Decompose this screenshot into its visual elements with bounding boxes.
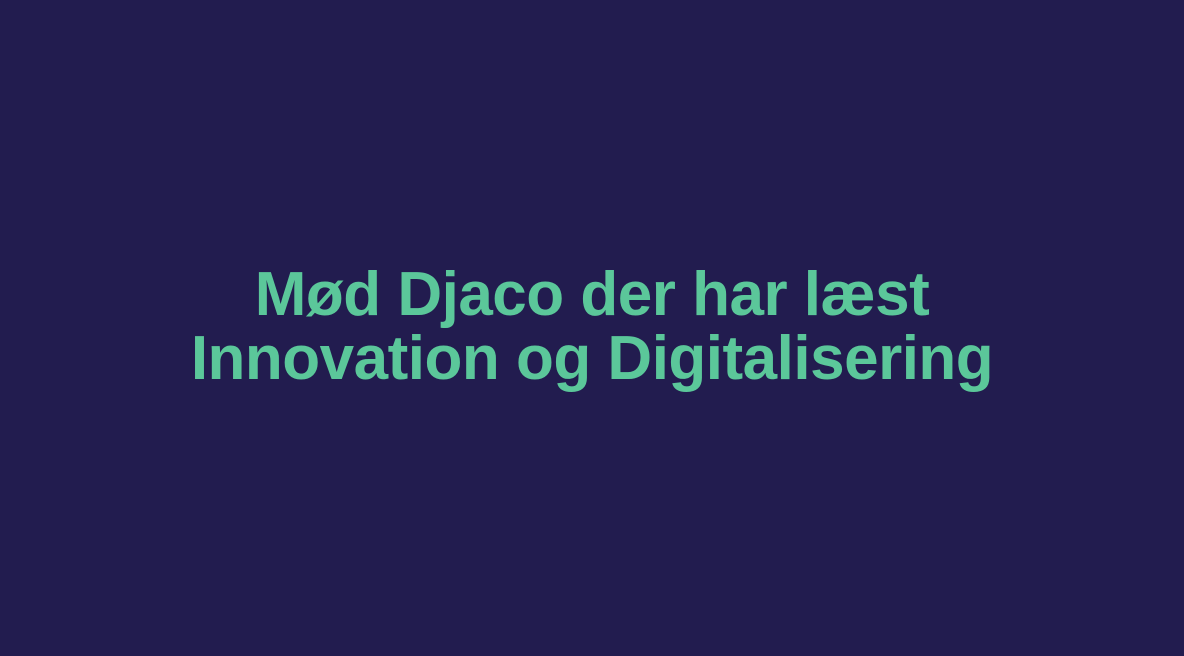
title-card-slide: Mød Djaco der har læst Innovation og Dig…	[0, 0, 1184, 656]
headline-line-1: Mød Djaco der har læst	[255, 263, 930, 327]
headline-block: Mød Djaco der har læst Innovation og Dig…	[0, 0, 1184, 656]
headline-line-2: Innovation og Digitalisering	[191, 327, 993, 391]
